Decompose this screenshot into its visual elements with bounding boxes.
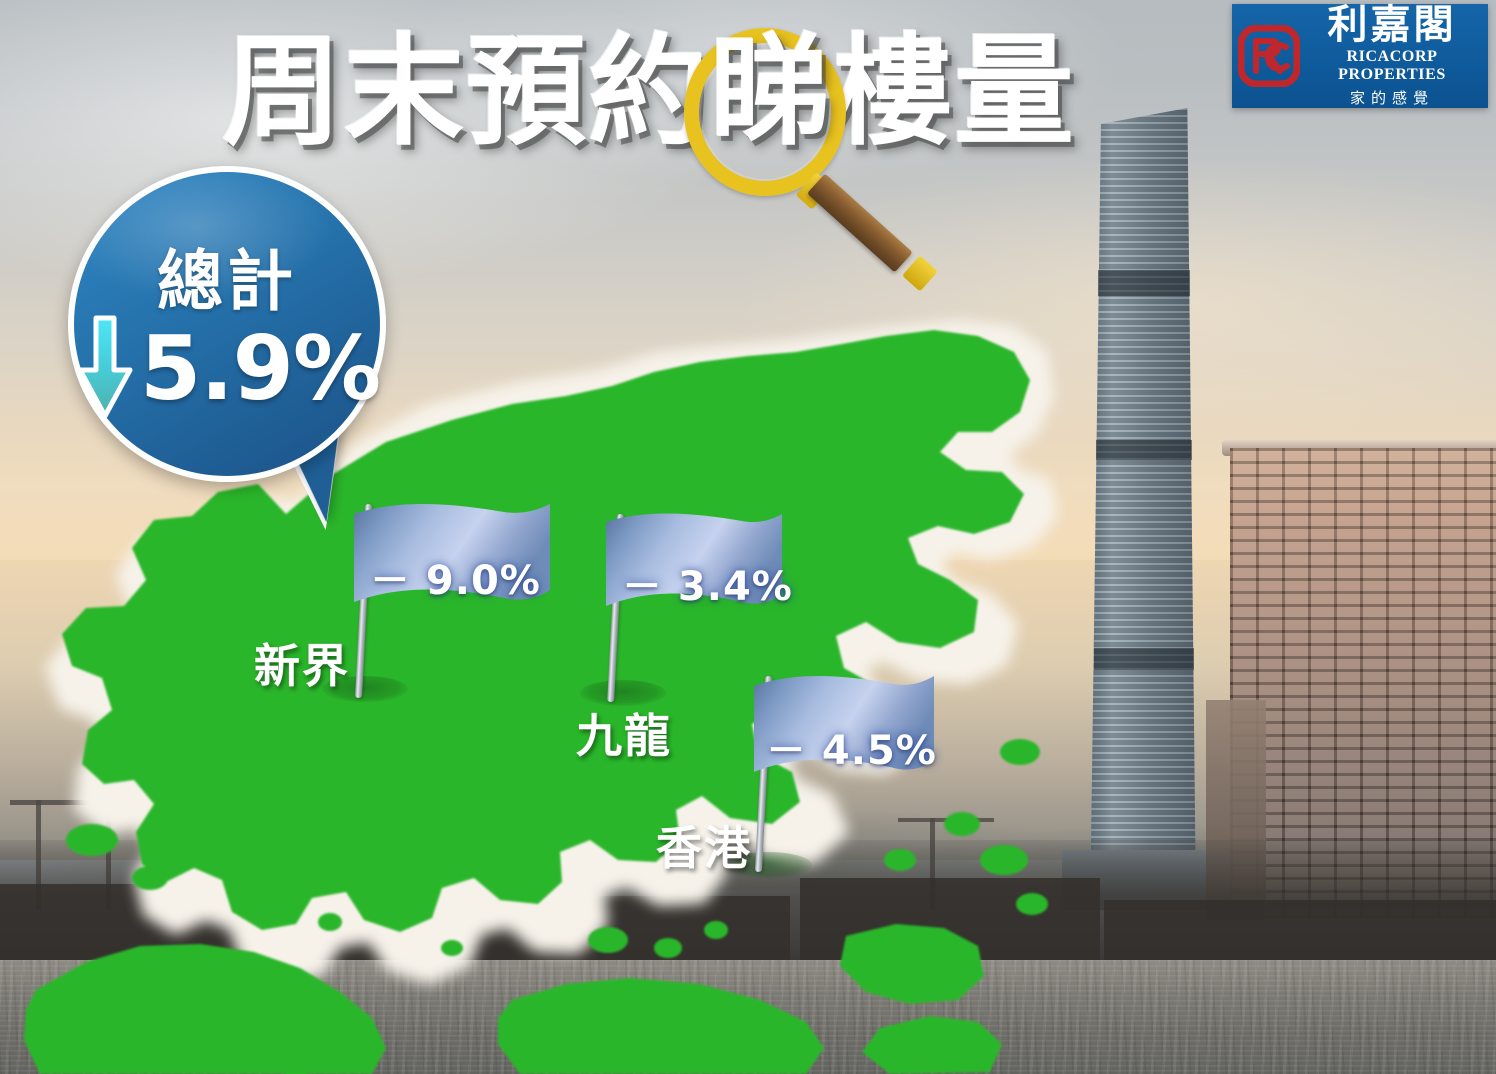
page-title: 周末預約睇樓量 bbox=[222, 26, 1076, 160]
icc-tower-facade bbox=[1088, 108, 1196, 908]
page-title-before: 周末預約 bbox=[222, 26, 710, 160]
logo-name-cn: 利嘉閣 bbox=[1304, 5, 1480, 45]
icc-tower-band bbox=[1096, 440, 1192, 460]
ricacorp-logo[interactable]: 利嘉閣 RICACORP PROPERTIES 家的感覺 bbox=[1232, 4, 1488, 108]
region-label-hong-kong-island: 香港 bbox=[656, 812, 752, 878]
ricacorp-rc-monogram-icon bbox=[1238, 25, 1300, 87]
down-arrow-icon bbox=[74, 312, 136, 424]
page-title-lens-char: 睇 bbox=[710, 26, 832, 160]
region-label-kowloon: 九龍 bbox=[576, 700, 672, 766]
flag-new-territories: － 9.0% bbox=[330, 500, 550, 710]
total-value: 5.9% bbox=[140, 317, 380, 420]
total-label: 總計 bbox=[74, 228, 380, 324]
flag-hong-kong-island: － 4.5% bbox=[730, 672, 930, 882]
ricacorp-logo-text: 利嘉閣 RICACORP PROPERTIES 家的感覺 bbox=[1304, 5, 1480, 108]
icc-tower-band bbox=[1094, 648, 1194, 670]
flag-value: － 4.5% bbox=[766, 718, 937, 776]
flag-value: － 9.0% bbox=[370, 548, 541, 606]
total-speech-bubble: 總計 5.9% bbox=[68, 166, 386, 482]
region-label-new-territories: 新界 bbox=[254, 630, 350, 696]
logo-tagline: 家的感覺 bbox=[1304, 87, 1480, 108]
logo-name-en: RICACORP PROPERTIES bbox=[1304, 48, 1480, 84]
page-title-after: 樓量 bbox=[832, 26, 1076, 160]
icc-tower-band bbox=[1098, 270, 1190, 296]
total-value-row: 5.9% bbox=[74, 312, 380, 424]
flag-value: － 3.4% bbox=[622, 554, 793, 612]
infographic-poster: 周末預約睇樓量 總計 5.9% bbox=[0, 0, 1496, 1074]
